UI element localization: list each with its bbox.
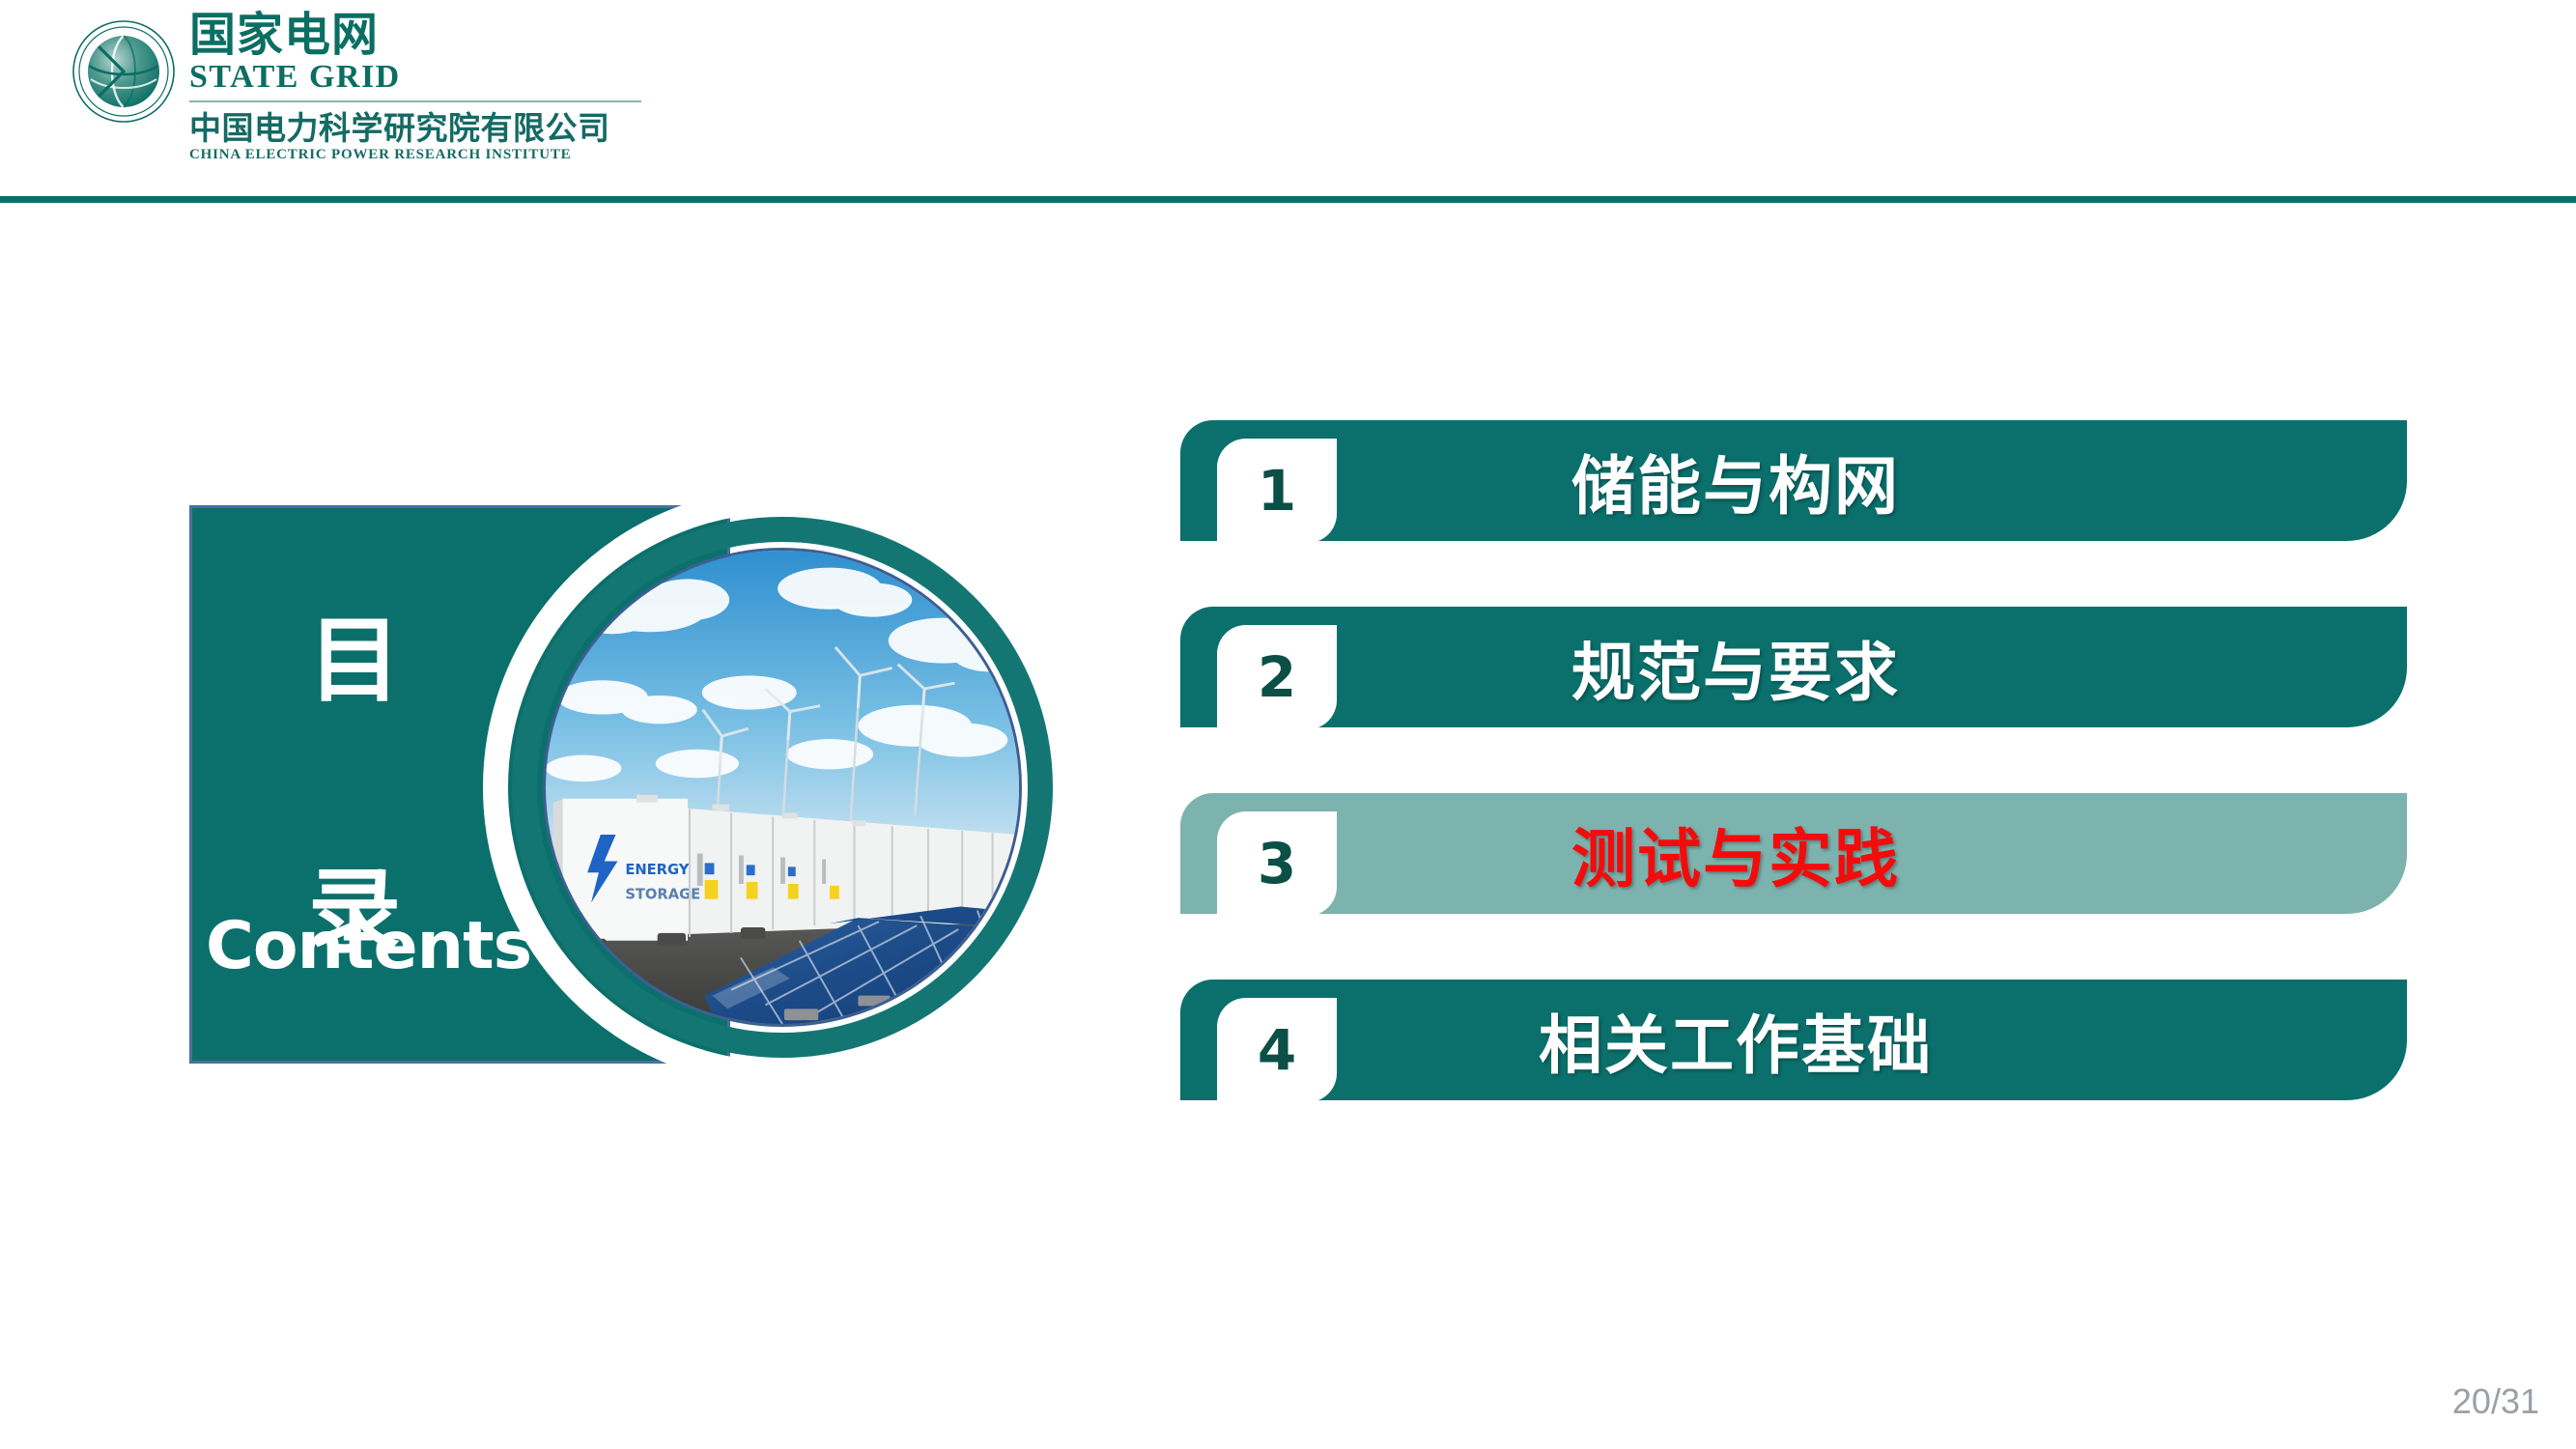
agenda-item-4[interactable]: 相关工作基础 4 (1180, 980, 2407, 1100)
brand-block: 国家电网 STATE GRID 中国电力科学研究院有限公司 CHINA ELEC… (189, 12, 692, 163)
agenda-item-3[interactable]: 测试与实践 3 (1180, 793, 2407, 914)
brand-divider (189, 100, 641, 102)
agenda-item-4-number: 4 (1217, 998, 1337, 1102)
agenda-item-3-number: 3 (1217, 811, 1337, 916)
agenda-item-1[interactable]: 储能与构网 1 (1180, 420, 2407, 541)
state-grid-globe-logo-icon (70, 17, 178, 126)
contents-title-cn-top: 目 (308, 614, 401, 707)
agenda-item-2[interactable]: 规范与要求 2 (1180, 607, 2407, 727)
agenda-item-2-number: 2 (1217, 625, 1337, 729)
agenda-item-1-label: 储能与构网 (1180, 420, 2407, 541)
svg-text:ENERGY: ENERGY (625, 862, 689, 878)
agenda-item-4-label: 相关工作基础 (1180, 980, 2407, 1100)
agenda-item-2-label: 规范与要求 (1180, 607, 2407, 727)
energy-storage-photo: ENERGY STORAGE (543, 548, 1022, 1027)
institute-name-cn: 中国电力科学研究院有限公司 (189, 112, 692, 146)
institute-name-en: CHINA ELECTRIC POWER RESEARCH INSTITUTE (189, 147, 692, 163)
agenda-item-3-label: 测试与实践 (1180, 793, 2407, 914)
contents-title-en: Contents (206, 914, 531, 980)
agenda-item-1-number: 1 (1217, 439, 1337, 543)
page-number: 20/31 (2452, 1381, 2539, 1422)
slide-header: 国家电网 STATE GRID 中国电力科学研究院有限公司 CHINA ELEC… (0, 0, 2576, 199)
agenda-list: 储能与构网 1 规范与要求 2 测试与实践 3 相关工作基础 4 (1180, 420, 2407, 1166)
header-bottom-rule (0, 196, 2576, 203)
brand-name-en: STATE GRID (189, 60, 692, 95)
brand-name-cn: 国家电网 (189, 12, 692, 59)
